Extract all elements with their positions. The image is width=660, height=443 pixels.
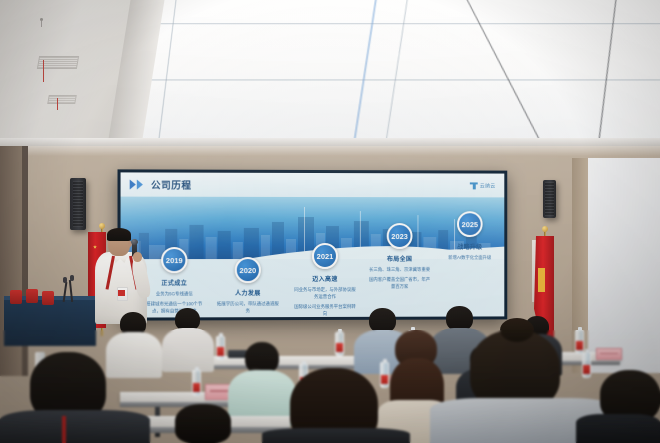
double-chevron-right-icon xyxy=(130,179,143,189)
timeline-item[interactable]: 2025 战略升级 新增AI数字化全面升级 xyxy=(439,211,500,264)
name-placard xyxy=(596,348,622,360)
timeline-year-badge: 2019 xyxy=(161,247,187,273)
audience-torso xyxy=(106,332,162,378)
timeline-body: 长三角、珠三角、京津冀等重要 xyxy=(369,266,431,273)
foreground-torso xyxy=(576,414,660,443)
flag-finial-left-icon xyxy=(99,223,105,229)
timeline-item[interactable]: 2021 迈入高速 同业务与市场定，与外部协议服务运营合作 国际级公司业务服务平… xyxy=(294,243,356,317)
slide-surface: 公司历程 云纳云 xyxy=(121,172,505,317)
foreground-torso xyxy=(0,410,150,443)
water-bottle xyxy=(216,336,225,360)
wall-speaker-right xyxy=(543,180,556,218)
presenter-hand xyxy=(133,252,142,262)
timeline-item[interactable]: 2020 人力发展 拓展学历公司，带队通过通道服务 xyxy=(217,257,279,317)
timeline-body: 新增AI数字化全面升级 xyxy=(439,254,500,261)
wall-highlight xyxy=(0,146,660,156)
logo-text: 云纳云 xyxy=(480,182,496,189)
hair-bun xyxy=(500,318,534,342)
conference-room-photo: 公司历程 云纳云 xyxy=(0,0,660,443)
timeline-heading: 迈入高速 xyxy=(294,274,356,283)
timeline-year-badge: 2020 xyxy=(235,257,261,283)
presenter-hair xyxy=(107,228,131,241)
logo-mark-icon xyxy=(470,181,478,189)
air-vent-small-icon xyxy=(47,95,77,104)
flag-finial-right-icon xyxy=(542,226,548,232)
timeline-item[interactable]: 2023 布局全国 长三角、珠三角、京津冀等重要 国内客户覆盖全国广省市，年产量… xyxy=(369,223,431,290)
badge-red-band xyxy=(118,290,125,296)
slide-header: 公司历程 云纳云 xyxy=(121,172,505,197)
flag-gold-band xyxy=(538,268,545,292)
timeline-year-badge: 2021 xyxy=(312,243,338,269)
audience-torso xyxy=(162,328,214,372)
water-bottle xyxy=(335,332,344,356)
microphone-head-icon xyxy=(131,239,138,245)
av-side-table xyxy=(4,300,96,346)
vent-red-marker xyxy=(43,60,44,82)
water-bottle xyxy=(192,370,201,396)
foreground-head xyxy=(175,404,231,443)
company-logo: 云纳云 xyxy=(470,181,496,189)
ceiling xyxy=(0,0,660,152)
timeline-year-badge: 2025 xyxy=(457,211,483,237)
water-bottle xyxy=(575,330,584,354)
timeline-item[interactable]: 2019 正式成立 业务为5G专线通信 搭建城市光通信一个100个节点，拥有自营… xyxy=(143,247,206,315)
lanyard-strap xyxy=(62,416,66,443)
timeline-heading: 正式成立 xyxy=(143,278,206,287)
timeline-heading: 布局全国 xyxy=(369,254,431,263)
timeline-year-badge: 2023 xyxy=(387,223,413,249)
timeline-body: 同业务与市场定，与外部协议服务运营合作 xyxy=(294,286,356,300)
right-white-panel xyxy=(588,158,660,373)
ceiling-rail xyxy=(0,138,660,146)
timeline-body: 业务为5G专线通信 xyxy=(143,290,206,297)
foreground-torso xyxy=(262,428,410,443)
timeline-body-2: 国内客户覆盖全国广省市，年产量百万家 xyxy=(369,276,431,290)
timeline-body-2: 国际级公司业务服务平台案例转向 xyxy=(294,303,356,317)
wall-speaker-left xyxy=(70,178,86,230)
led-video-wall[interactable]: 公司历程 云纳云 xyxy=(118,169,508,320)
sprinkler-stem xyxy=(41,21,42,27)
vent-red-marker-2 xyxy=(57,98,58,110)
page-title: 公司历程 xyxy=(151,178,191,192)
timeline-heading: 人力发展 xyxy=(217,288,279,297)
timeline-heading: 战略升级 xyxy=(439,242,500,251)
water-bottle xyxy=(380,362,389,388)
water-bottle xyxy=(582,352,591,378)
timeline-body: 拓展学历公司，带队通过通道服务 xyxy=(217,300,279,314)
